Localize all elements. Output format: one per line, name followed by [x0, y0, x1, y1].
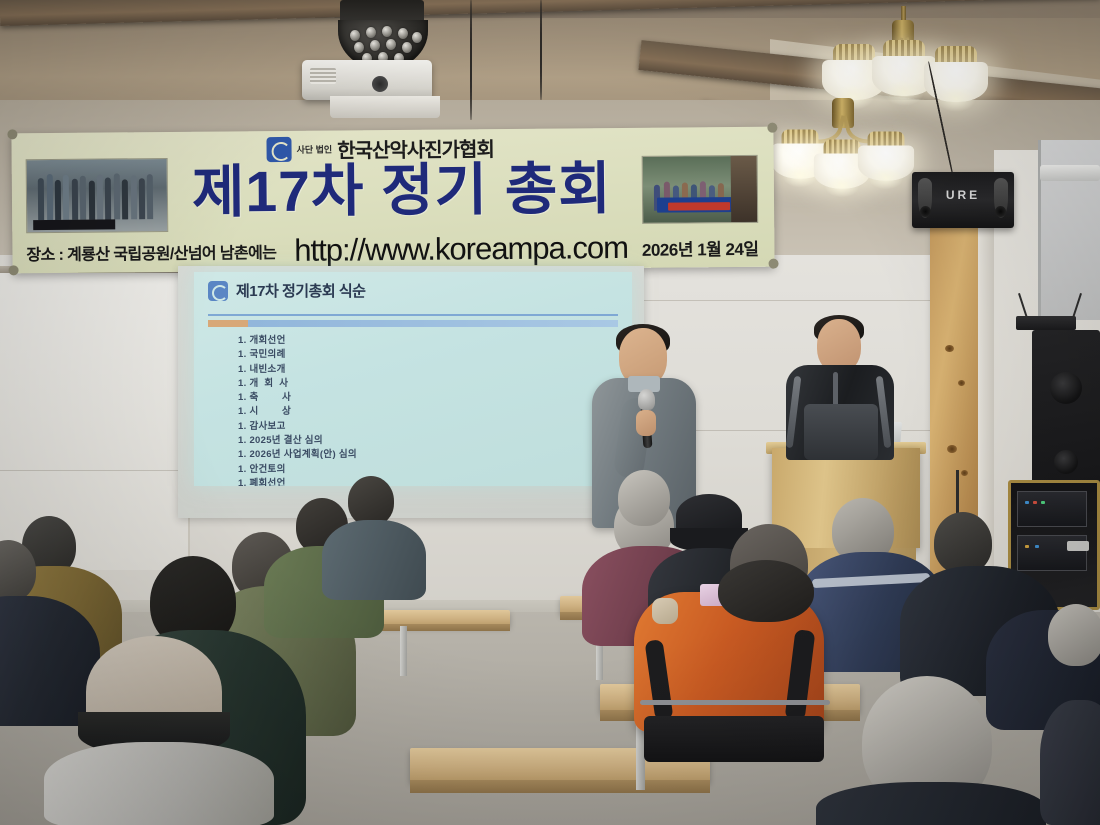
jacket-panel — [804, 404, 878, 460]
lamp-glow — [868, 167, 903, 190]
list-item: 1. 2025년 결산 심의 — [238, 434, 598, 448]
list-item: 1. 개 회 사 — [238, 377, 598, 391]
wood-knot — [958, 380, 965, 386]
banner-org-prefix: 사단 법인 — [297, 144, 333, 154]
wood-knot — [961, 470, 968, 476]
spiral-logo-icon — [208, 281, 228, 301]
speaker-brand-label: URE — [912, 188, 1014, 202]
wheelchair-seat — [644, 716, 824, 762]
banner-tie — [7, 129, 17, 139]
wood-knot — [945, 345, 954, 352]
list-item: 1. 감사보고 — [238, 420, 598, 434]
lamp-glow — [824, 175, 859, 198]
banner-tie — [767, 123, 777, 133]
lamp-glow — [782, 165, 817, 188]
slide-accent-bar — [208, 320, 618, 327]
banner-title: 제17차 정기 총회 — [162, 156, 643, 226]
slide-accent-tab — [208, 320, 248, 327]
slide-divider — [208, 314, 618, 316]
banner-date: 2026년 1월 24일 — [642, 234, 759, 260]
list-item: 1. 폐회선언 — [238, 477, 598, 486]
slide-title: 제17차 정기총회 식순 — [236, 280, 365, 301]
wall-seam — [0, 470, 180, 471]
presentation-slide: 제17차 정기총회 식순 1. 개회선언 1. 국민의례 1. 내빈소개 1. … — [194, 272, 632, 486]
banner-photo-left — [26, 158, 169, 233]
event-banner: 사단 법인 한국산악사진가협회 제17차 정기 총회 — [11, 127, 774, 274]
wheelchair-rail — [640, 700, 830, 705]
wall-seam — [640, 300, 940, 301]
banner-place: 장소 : 계룡산 국립공원/산넘어 남촌에는 — [26, 239, 276, 265]
window-bar — [1040, 165, 1100, 181]
projector-lower — [330, 96, 440, 118]
desk-leg — [400, 626, 407, 676]
slide-agenda-list: 1. 개회선언 1. 국민의례 1. 내빈소개 1. 개 회 사 1. 축 사 … — [238, 334, 598, 486]
desk-edge — [410, 780, 710, 793]
gloved-hand — [652, 598, 678, 624]
ceiling-cable — [540, 0, 542, 100]
ceiling-cable — [470, 0, 472, 120]
list-item: 1. 축 사 — [238, 391, 598, 405]
list-item: 1. 안건토의 — [238, 463, 598, 477]
lamp — [924, 46, 988, 104]
photo-inner-banner-red — [668, 202, 730, 211]
list-item: 1. 2026년 사업계획(안) 심의 — [238, 448, 598, 462]
banner-photo-right — [642, 155, 759, 224]
lamp-glow — [936, 86, 976, 112]
wood-knot — [947, 445, 957, 453]
hand — [636, 410, 656, 436]
chandelier — [768, 96, 918, 206]
banner-url: http://www.koreampa.com — [294, 230, 628, 269]
projector-vent — [310, 68, 336, 84]
lamp — [858, 131, 914, 182]
meeting-hall-photo: 사단 법인 한국산악사진가협회 제17차 정기 총회 — [0, 0, 1100, 825]
list-item: 1. 개회선언 — [238, 334, 598, 348]
projector-lens-icon — [372, 76, 388, 92]
list-item: 1. 내빈소개 — [238, 363, 598, 377]
wall-speaker: URE — [912, 172, 1014, 228]
microphone-icon — [638, 389, 655, 410]
list-item: 1. 국민의례 — [238, 348, 598, 362]
list-item: 1. 시 상 — [238, 405, 598, 419]
slide-header: 제17차 정기총회 식순 — [208, 280, 365, 301]
